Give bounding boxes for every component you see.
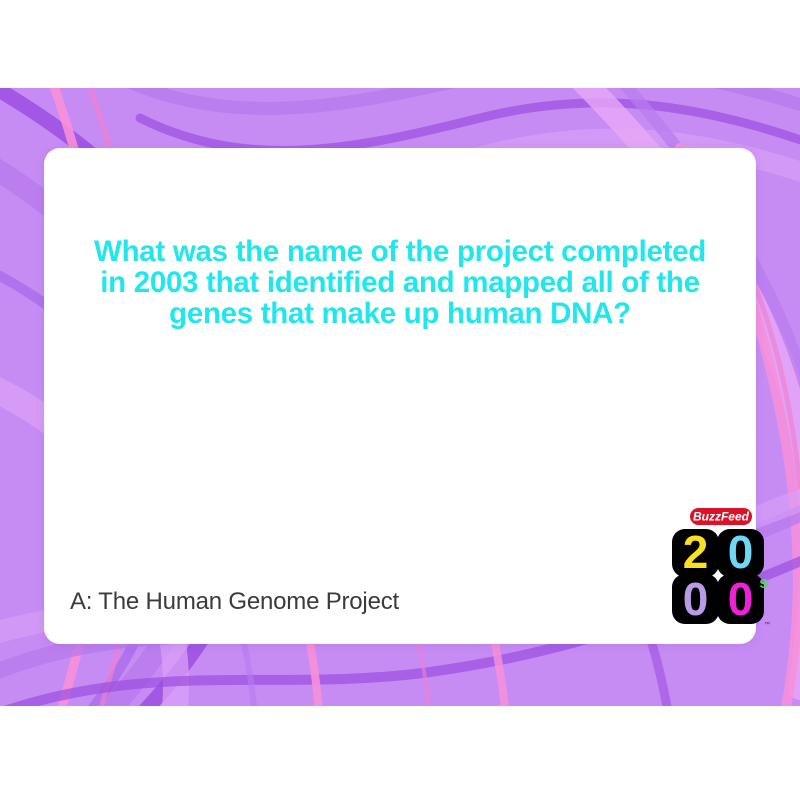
superscript-s: s bbox=[759, 573, 768, 592]
decade-digits: 2 0 0 0 bbox=[672, 526, 764, 625]
answer-text: A: The Human Genome Project bbox=[70, 588, 399, 616]
buzzfeed-2000s-logo: BuzzFeed 2 0 bbox=[664, 506, 776, 628]
buzzfeed-badge: BuzzFeed bbox=[690, 508, 752, 525]
trademark-mark: ™ bbox=[764, 621, 770, 628]
svg-text:0: 0 bbox=[728, 573, 754, 625]
svg-text:0: 0 bbox=[683, 573, 709, 625]
letterbox-top bbox=[0, 0, 800, 88]
letterbox-bottom bbox=[0, 706, 800, 800]
question-text: What was the name of the project complet… bbox=[72, 236, 728, 329]
slide-canvas: What was the name of the project complet… bbox=[0, 0, 800, 800]
quiz-card: What was the name of the project complet… bbox=[44, 148, 756, 644]
svg-text:s: s bbox=[759, 573, 768, 592]
svg-text:2: 2 bbox=[683, 526, 709, 578]
svg-text:BuzzFeed: BuzzFeed bbox=[693, 510, 750, 524]
svg-text:0: 0 bbox=[728, 526, 754, 578]
